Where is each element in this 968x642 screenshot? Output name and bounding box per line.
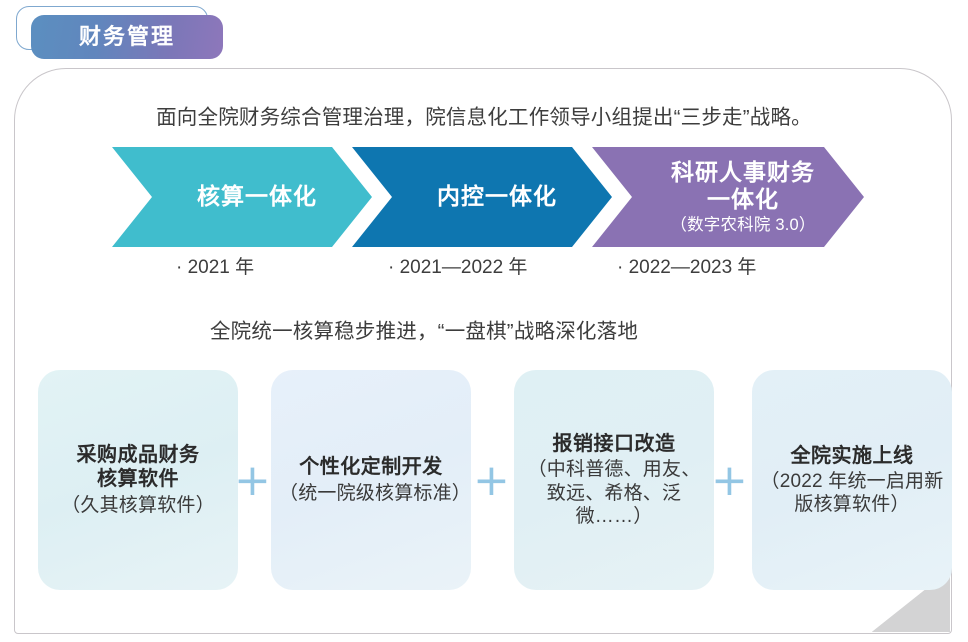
mid-paragraph: 全院统一核算稳步推进，“一盘棋”战略深化落地 bbox=[0, 314, 968, 344]
implementation-step-2: 个性化定制开发 （统一院级核算标准） bbox=[271, 370, 471, 590]
implementation-step-1-subtitle: （久其核算软件） bbox=[61, 494, 215, 517]
strategy-arrow-2-title: 内控一体化 bbox=[437, 183, 557, 210]
strategy-arrow-3-content: 科研人事财务 一体化 （数字农科院 3.0） bbox=[640, 159, 815, 236]
plus-icon-3: + bbox=[711, 466, 745, 500]
strategy-arrow-3-title-line1: 科研人事财务 bbox=[670, 159, 815, 186]
implementation-step-2-content: 个性化定制开发 （统一院级核算标准） bbox=[279, 455, 463, 505]
plus-icon-1: + bbox=[234, 466, 268, 500]
plus-icon-2: + bbox=[473, 466, 507, 500]
strategy-arrow-2-content: 内控一体化 bbox=[407, 183, 557, 210]
title-badge-fill: 财务管理 bbox=[31, 15, 223, 59]
implementation-step-4-title-line1: 全院实施上线 bbox=[760, 444, 944, 468]
lead-paragraph: 面向全院财务综合管理治理，院信息化工作领导小组提出“三步走”战略。 bbox=[0, 100, 968, 130]
implementation-step-group: 采购成品财务 核算软件 （久其核算软件） + 个性化定制开发 （统一院级核算标准… bbox=[0, 370, 968, 590]
strategy-arrow-group: 核算一体化 内控一体化 科研人事财务 一体化 （数字农科院 3.0） bbox=[0, 147, 968, 247]
implementation-step-1-content: 采购成品财务 核算软件 （久其核算软件） bbox=[61, 443, 215, 517]
timeline-year-2: · 2021—2022 年 bbox=[388, 252, 527, 279]
strategy-arrow-1: 核算一体化 bbox=[112, 147, 372, 247]
timeline-year-3: · 2022—2023 年 bbox=[617, 252, 756, 279]
implementation-step-1-title-line2: 核算软件 bbox=[61, 467, 215, 491]
implementation-step-3-title-line1: 报销接口改造 bbox=[522, 432, 706, 456]
page-title-badge: 财务管理 bbox=[16, 6, 226, 58]
implementation-step-1-title-line1: 采购成品财务 bbox=[61, 443, 215, 467]
implementation-step-4-content: 全院实施上线 （2022 年统一启用新版核算软件） bbox=[760, 444, 944, 517]
implementation-step-4-subtitle: （2022 年统一启用新版核算软件） bbox=[760, 470, 944, 516]
strategy-arrow-3: 科研人事财务 一体化 （数字农科院 3.0） bbox=[592, 147, 864, 247]
strategy-arrow-3-subtitle: （数字农科院 3.0） bbox=[670, 216, 815, 235]
implementation-step-3-subtitle: （中科普德、用友、致远、希格、泛微……） bbox=[522, 458, 706, 528]
implementation-step-3-content: 报销接口改造 （中科普德、用友、致远、希格、泛微……） bbox=[522, 432, 706, 528]
implementation-step-2-subtitle: （统一院级核算标准） bbox=[279, 482, 463, 505]
implementation-step-2-title-line1: 个性化定制开发 bbox=[279, 455, 463, 479]
strategy-arrow-1-title: 核算一体化 bbox=[197, 183, 317, 210]
strategy-arrow-2: 内控一体化 bbox=[352, 147, 612, 247]
timeline-year-labels: · 2021 年 · 2021—2022 年 · 2022—2023 年 bbox=[0, 252, 968, 280]
implementation-step-1: 采购成品财务 核算软件 （久其核算软件） bbox=[38, 370, 238, 590]
strategy-arrow-3-title-line2: 一体化 bbox=[670, 186, 815, 213]
implementation-step-3: 报销接口改造 （中科普德、用友、致远、希格、泛微……） bbox=[514, 370, 714, 590]
timeline-year-1: · 2021 年 bbox=[176, 252, 254, 279]
strategy-arrow-1-content: 核算一体化 bbox=[167, 183, 317, 210]
implementation-step-4: 全院实施上线 （2022 年统一启用新版核算软件） bbox=[752, 370, 952, 590]
page-title: 财务管理 bbox=[79, 26, 175, 48]
